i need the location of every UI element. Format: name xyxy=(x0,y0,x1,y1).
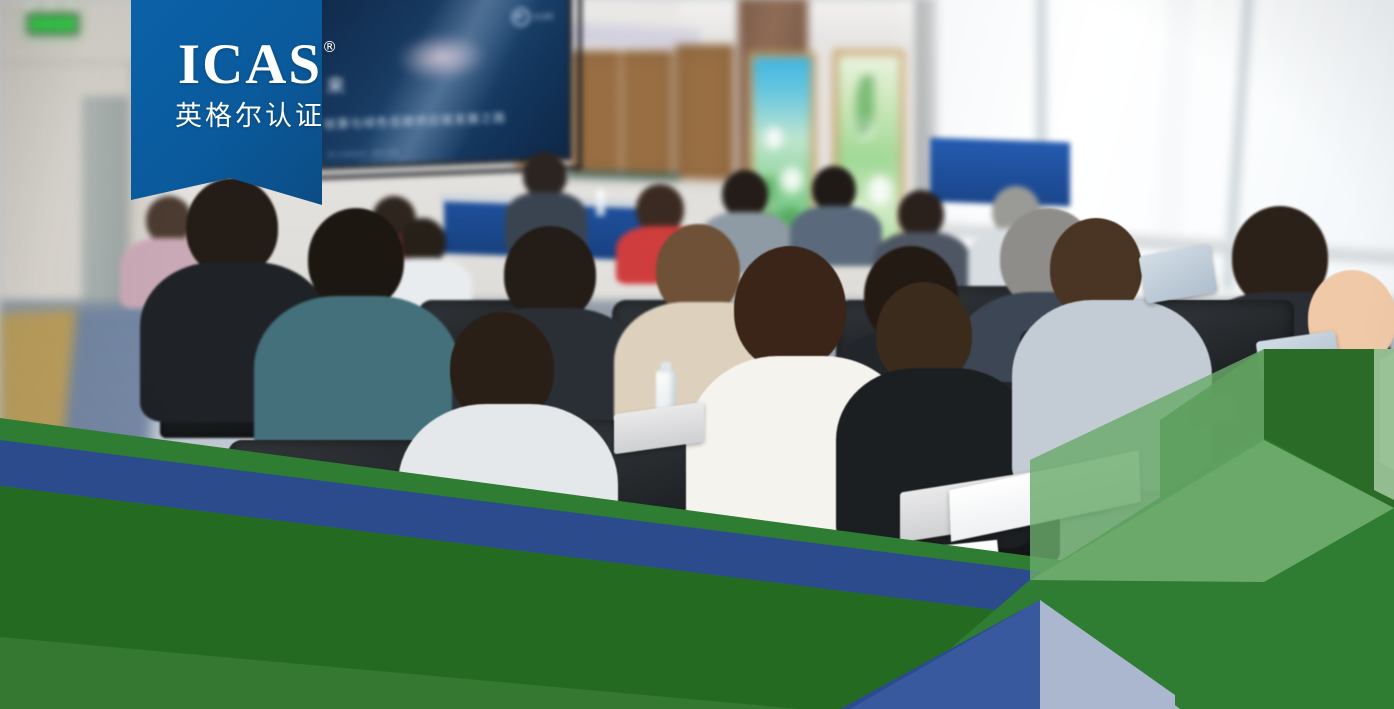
icas-chinese-name: 英格尔认证 xyxy=(160,94,340,133)
icas-logo-panel: ICAS® 英格尔认证 xyxy=(0,0,1394,709)
icas-wordmark: ICAS® xyxy=(178,38,322,92)
registered-mark-icon: ® xyxy=(322,40,339,54)
banner-canvas: ICAS 来 核算与绿色低碳供应链发展之路 第三方核查机构 · 碳资产管理 xyxy=(0,0,1394,709)
icas-wordmark-text: ICAS xyxy=(178,33,322,96)
icas-logo-lockup: ICAS® 英格尔认证 xyxy=(160,38,340,133)
